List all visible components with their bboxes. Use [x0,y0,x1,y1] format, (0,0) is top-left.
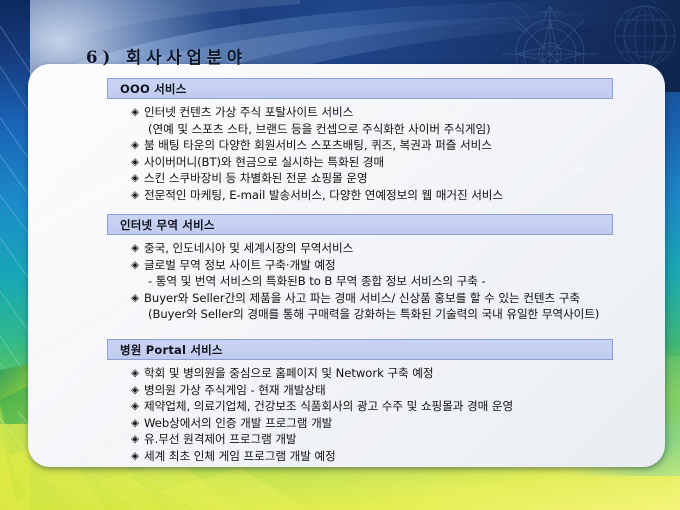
section-bullet-list: ◈ 학회 및 병의원을 중심으로 홈페이지 및 Network 구축 예정 ◈ … [28,365,665,464]
diamond-bullet-icon: ◈ [131,398,144,415]
list-item-continuation: ◈ (Buyer와 Seller의 경매를 통해 구매력을 강화하는 특화된 기… [131,306,665,323]
diamond-bullet-icon: ◈ [131,365,144,382]
list-item: ◈ 제약업체, 의료기업체, 건강보조 식품회사의 광고 수주 및 쇼핑몰과 경… [131,398,665,415]
list-item-text: (연예 및 스포츠 스타, 브랜드 등을 컨셉으로 주식화한 사이버 주식게임) [144,121,491,138]
list-item: ◈ 중국, 인도네시아 및 세계시장의 무역서비스 [131,240,665,257]
list-item-continuation: ◈ (연예 및 스포츠 스타, 브랜드 등을 컨셉으로 주식화한 사이버 주식게… [131,121,665,138]
section-bullet-list: ◈ 중국, 인도네시아 및 세계시장의 무역서비스 ◈ 글로벌 무역 정보 사이… [28,240,665,323]
section-header-label: 인터넷 무역 서비스 [108,217,215,233]
section-header-bar[interactable]: OOO 서비스 [107,78,613,99]
list-item-text: 병의원 가상 주식게임 - 현재 개발상태 [144,382,326,399]
list-item: ◈ 병의원 가상 주식게임 - 현재 개발상태 [131,382,665,399]
section-hospital-portal-service: 병원 Portal 서비스 ◈ 학회 및 병의원을 중심으로 홈페이지 및 Ne… [28,339,665,464]
diamond-bullet-icon: ◈ [131,170,144,187]
list-item: ◈ 전문적인 마케팅, E-mail 발송서비스, 다양한 연예정보의 웹 매거… [131,187,665,204]
diamond-bullet-icon: ◈ [131,104,144,121]
list-item: ◈ 학회 및 병의원을 중심으로 홈페이지 및 Network 구축 예정 [131,365,665,382]
diamond-bullet-icon: ◈ [131,257,144,274]
list-item-text: 제약업체, 의료기업체, 건강보조 식품회사의 광고 수주 및 쇼핑몰과 경매 … [144,398,513,415]
section-header-label: 병원 Portal 서비스 [108,342,223,358]
list-item-text: Buyer와 Seller간의 제품을 사고 파는 경매 서비스/ 신상품 홍보… [144,290,580,307]
list-item: ◈ 사이버머니(BT)와 현금으로 실시하는 특화된 경매 [131,154,665,171]
list-item-text: 인터넷 컨텐츠 가상 주식 포탈사이트 서비스 [144,104,353,121]
list-item-text: Web상에서의 인증 개발 프로그램 개발 [144,415,332,432]
diamond-bullet-icon: ◈ [131,431,144,448]
diamond-bullet-icon: ◈ [131,154,144,171]
list-item-text: 학회 및 병의원을 중심으로 홈페이지 및 Network 구축 예정 [144,365,433,382]
list-item-text: 글로벌 무역 정보 사이트 구축·개발 예정 [144,257,336,274]
list-item-text: 세계 최초 인체 게임 프로그램 개발 예정 [144,448,336,465]
list-item: ◈ Web상에서의 인증 개발 프로그램 개발 [131,415,665,432]
diamond-bullet-icon: ◈ [131,415,144,432]
sections-container: OOO 서비스 ◈ 인터넷 컨텐츠 가상 주식 포탈사이트 서비스 ◈ (연예 … [28,64,665,467]
list-item: ◈ 글로벌 무역 정보 사이트 구축·개발 예정 [131,257,665,274]
list-item-text: 사이버머니(BT)와 현금으로 실시하는 특화된 경매 [144,154,384,171]
section-header-bar[interactable]: 인터넷 무역 서비스 [107,214,613,235]
diamond-bullet-icon: ◈ [131,187,144,204]
list-item: ◈ 인터넷 컨텐츠 가상 주식 포탈사이트 서비스 [131,104,665,121]
list-item: ◈ 세계 최초 인체 게임 프로그램 개발 예정 [131,448,665,465]
presentation-slide: 6) 회사사업분야 OOO 서비스 ◈ 인터넷 컨텐츠 가상 주식 포탈사이트 … [0,0,680,510]
diamond-bullet-icon: ◈ [131,448,144,465]
diamond-bullet-icon: ◈ [131,382,144,399]
list-item-text: 유.무선 원격제어 프로그램 개발 [144,431,297,448]
diamond-bullet-icon: ◈ [131,240,144,257]
list-item-text: 전문적인 마케팅, E-mail 발송서비스, 다양한 연예정보의 웹 매거진 … [144,187,503,204]
list-item-continuation: ◈ - 통역 및 번역 서비스의 특화된B to B 무역 종합 정보 서비스의… [131,273,665,290]
section-header-bar[interactable]: 병원 Portal 서비스 [107,339,613,360]
list-item: ◈ Buyer와 Seller간의 제품을 사고 파는 경매 서비스/ 신상품 … [131,290,665,307]
list-item: ◈ 붐 배팅 타운의 다양한 회원서비스 스포츠배팅, 퀴즈, 복권과 퍼즐 서… [131,137,665,154]
list-item-text: 스킨 스쿠바장비 등 차별화된 전문 쇼핑몰 운영 [144,170,368,187]
list-item-text: 중국, 인도네시아 및 세계시장의 무역서비스 [144,240,353,257]
list-item: ◈ 유.무선 원격제어 프로그램 개발 [131,431,665,448]
list-item: ◈ 스킨 스쿠바장비 등 차별화된 전문 쇼핑몰 운영 [131,170,665,187]
list-item-text: - 통역 및 번역 서비스의 특화된B to B 무역 종합 정보 서비스의 구… [144,273,486,290]
section-header-label: OOO 서비스 [108,81,186,97]
diamond-bullet-icon: ◈ [131,137,144,154]
list-item-text: (Buyer와 Seller의 경매를 통해 구매력을 강화하는 특화된 기술력… [144,306,599,323]
section-ooo-service: OOO 서비스 ◈ 인터넷 컨텐츠 가상 주식 포탈사이트 서비스 ◈ (연예 … [28,78,665,203]
section-internet-trade-service: 인터넷 무역 서비스 ◈ 중국, 인도네시아 및 세계시장의 무역서비스 ◈ 글… [28,214,665,323]
list-item-text: 붐 배팅 타운의 다양한 회원서비스 스포츠배팅, 퀴즈, 복권과 퍼즐 서비스 [144,137,492,154]
diamond-bullet-icon: ◈ [131,290,144,307]
section-bullet-list: ◈ 인터넷 컨텐츠 가상 주식 포탈사이트 서비스 ◈ (연예 및 스포츠 스타… [28,104,665,203]
